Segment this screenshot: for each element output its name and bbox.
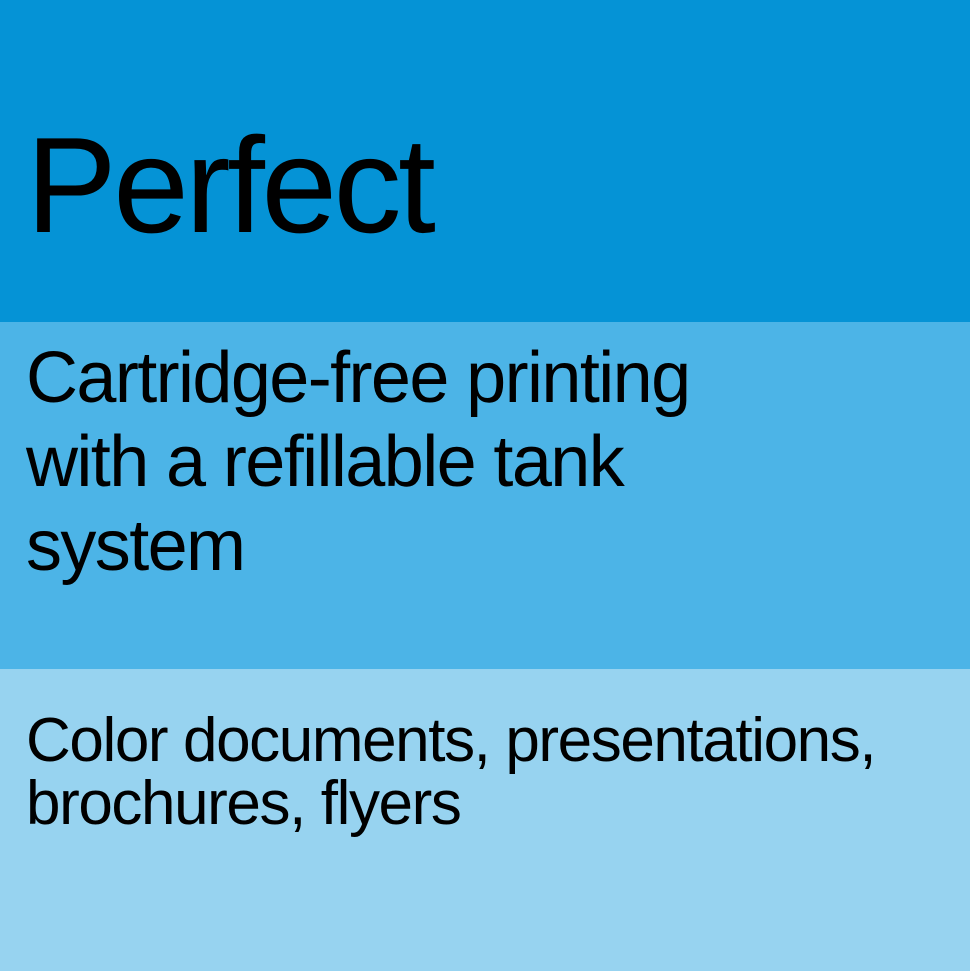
detail-line-2: brochures, flyers bbox=[26, 772, 875, 835]
detail-band: Color documents, presentations, brochure… bbox=[0, 669, 970, 971]
headline-line-1: Perfect bbox=[26, 119, 535, 252]
feature-panel: Perfect for home Cartridge-free printing… bbox=[0, 0, 970, 971]
detail-text: Color documents, presentations, brochure… bbox=[26, 709, 875, 835]
subheadline: Cartridge-free printing with a refillabl… bbox=[26, 336, 690, 588]
subheadline-line-2: with a refillable tank bbox=[26, 420, 690, 504]
subheadline-line-1: Cartridge-free printing bbox=[26, 336, 690, 420]
page-title: Perfect for home bbox=[26, 0, 535, 322]
subheadline-line-3: system bbox=[26, 504, 690, 588]
headline-band: Perfect for home bbox=[0, 0, 970, 322]
subheadline-band: Cartridge-free printing with a refillabl… bbox=[0, 322, 970, 669]
detail-line-1: Color documents, presentations, bbox=[26, 709, 875, 772]
